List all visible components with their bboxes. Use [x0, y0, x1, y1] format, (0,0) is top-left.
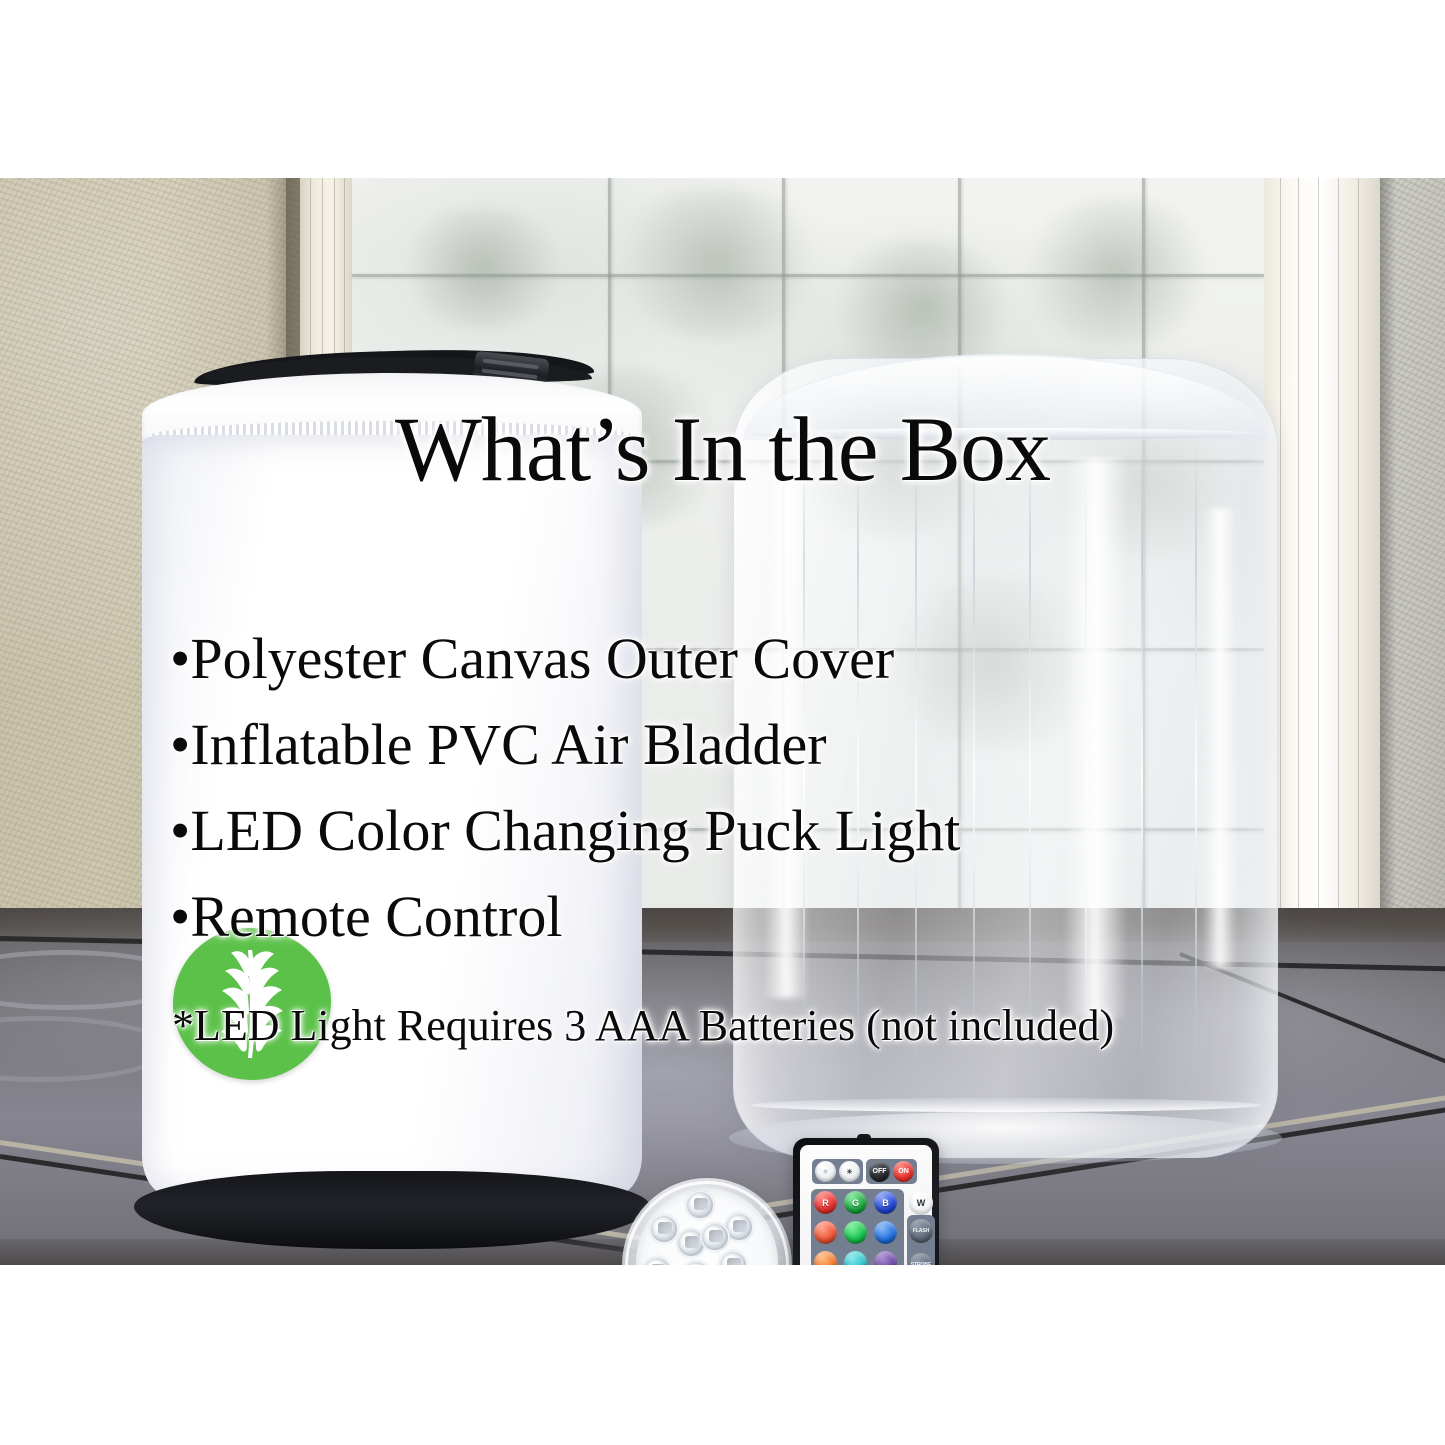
bullet-marker: • [170, 884, 190, 949]
color-button-blue[interactable]: B [874, 1191, 897, 1214]
brightness-down-icon[interactable]: ☀ [839, 1161, 860, 1182]
list-item-label: Inflatable PVC Air Bladder [190, 712, 826, 777]
color-button-red[interactable]: R [814, 1191, 837, 1214]
remote-button-grid: R G B W FLASH STROBE [811, 1189, 935, 1265]
brightness-group: ☼ ☀ [812, 1159, 863, 1184]
color-button-green[interactable]: G [844, 1191, 867, 1214]
bullet-marker: • [170, 798, 190, 863]
contents-list: •Polyester Canvas Outer Cover •Inflatabl… [170, 616, 1300, 960]
bullet-marker: • [170, 626, 190, 691]
product-image: ☼ ☀ OFF ON R G B W [0, 0, 1445, 1445]
page-title: What’s In the Box [0, 396, 1445, 502]
mode-button-flash[interactable]: FLASH [909, 1219, 933, 1243]
list-item-label: Remote Control [190, 884, 562, 949]
power-group: OFF ON [866, 1159, 917, 1184]
remote-top-row: ☼ ☀ OFF ON [812, 1159, 934, 1184]
power-off-button[interactable]: OFF [869, 1161, 890, 1182]
product-photo: ☼ ☀ OFF ON R G B W [0, 178, 1445, 1265]
color-button-azure[interactable] [874, 1221, 897, 1244]
list-item: •Polyester Canvas Outer Cover [170, 616, 1300, 702]
color-button-orange-red[interactable] [814, 1221, 837, 1244]
power-on-button[interactable]: ON [893, 1161, 914, 1182]
bag-base-trim [134, 1171, 650, 1249]
color-button-white[interactable]: W [909, 1191, 933, 1215]
led-puck-light [622, 1178, 792, 1265]
bullet-marker: • [170, 712, 190, 777]
list-item-label: LED Color Changing Puck Light [190, 798, 960, 863]
list-item: •LED Color Changing Puck Light [170, 788, 1300, 874]
brightness-up-icon[interactable]: ☼ [815, 1161, 836, 1182]
color-button-bright-green[interactable] [844, 1221, 867, 1244]
battery-footnote: *LED Light Requires 3 AAA Batteries (not… [172, 1000, 1372, 1051]
list-item: •Remote Control [170, 874, 1300, 960]
list-item-label: Polyester Canvas Outer Cover [190, 626, 894, 691]
rgb-remote-control[interactable]: ☼ ☀ OFF ON R G B W [793, 1138, 939, 1265]
list-item: •Inflatable PVC Air Bladder [170, 702, 1300, 788]
